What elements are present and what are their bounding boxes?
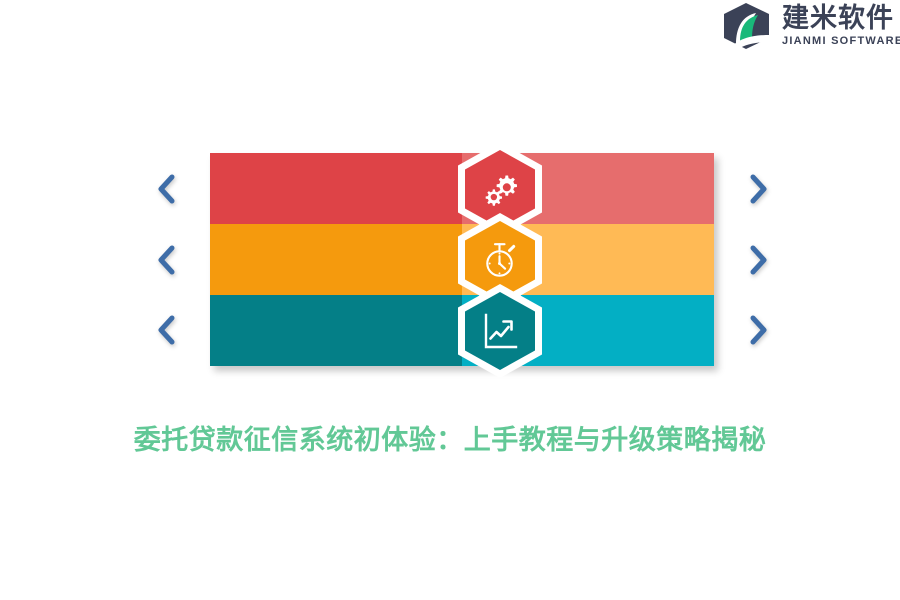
prev-step-1-button[interactable] (152, 171, 180, 207)
chevron-left-icon (152, 312, 180, 348)
infographic-panel (210, 153, 714, 366)
chevron-left-icon (152, 171, 180, 207)
row-3-right-block (462, 295, 714, 366)
chevron-right-icon (744, 171, 772, 207)
next-step-2-button[interactable] (744, 242, 772, 278)
jianmi-hexagon-leaf-logo-icon (722, 2, 774, 50)
row-2-left-block (210, 224, 462, 295)
row-3-left-block (210, 295, 462, 366)
brand-logo: 建米软件 JIANMI SOFTWARE (722, 0, 900, 52)
next-step-3-button[interactable] (744, 312, 772, 348)
row-2-right-block (462, 224, 714, 295)
page-title: 委托贷款征信系统初体验：上手教程与升级策略揭秘 (0, 418, 900, 457)
next-step-1-button[interactable] (744, 171, 772, 207)
infographic-row-2 (210, 224, 714, 295)
chevron-right-icon (744, 312, 772, 348)
chevron-left-icon (152, 242, 180, 278)
brand-text: 建米软件 JIANMI SOFTWARE (782, 5, 900, 47)
row-1-right-block (462, 153, 714, 224)
infographic-row-1 (210, 153, 714, 224)
infographic-row-3 (210, 295, 714, 366)
prev-step-2-button[interactable] (152, 242, 180, 278)
row-1-left-block (210, 153, 462, 224)
prev-step-3-button[interactable] (152, 312, 180, 348)
chevron-right-icon (744, 242, 772, 278)
brand-name-en: JIANMI SOFTWARE (782, 36, 900, 47)
brand-name-cn: 建米软件 (782, 5, 900, 32)
